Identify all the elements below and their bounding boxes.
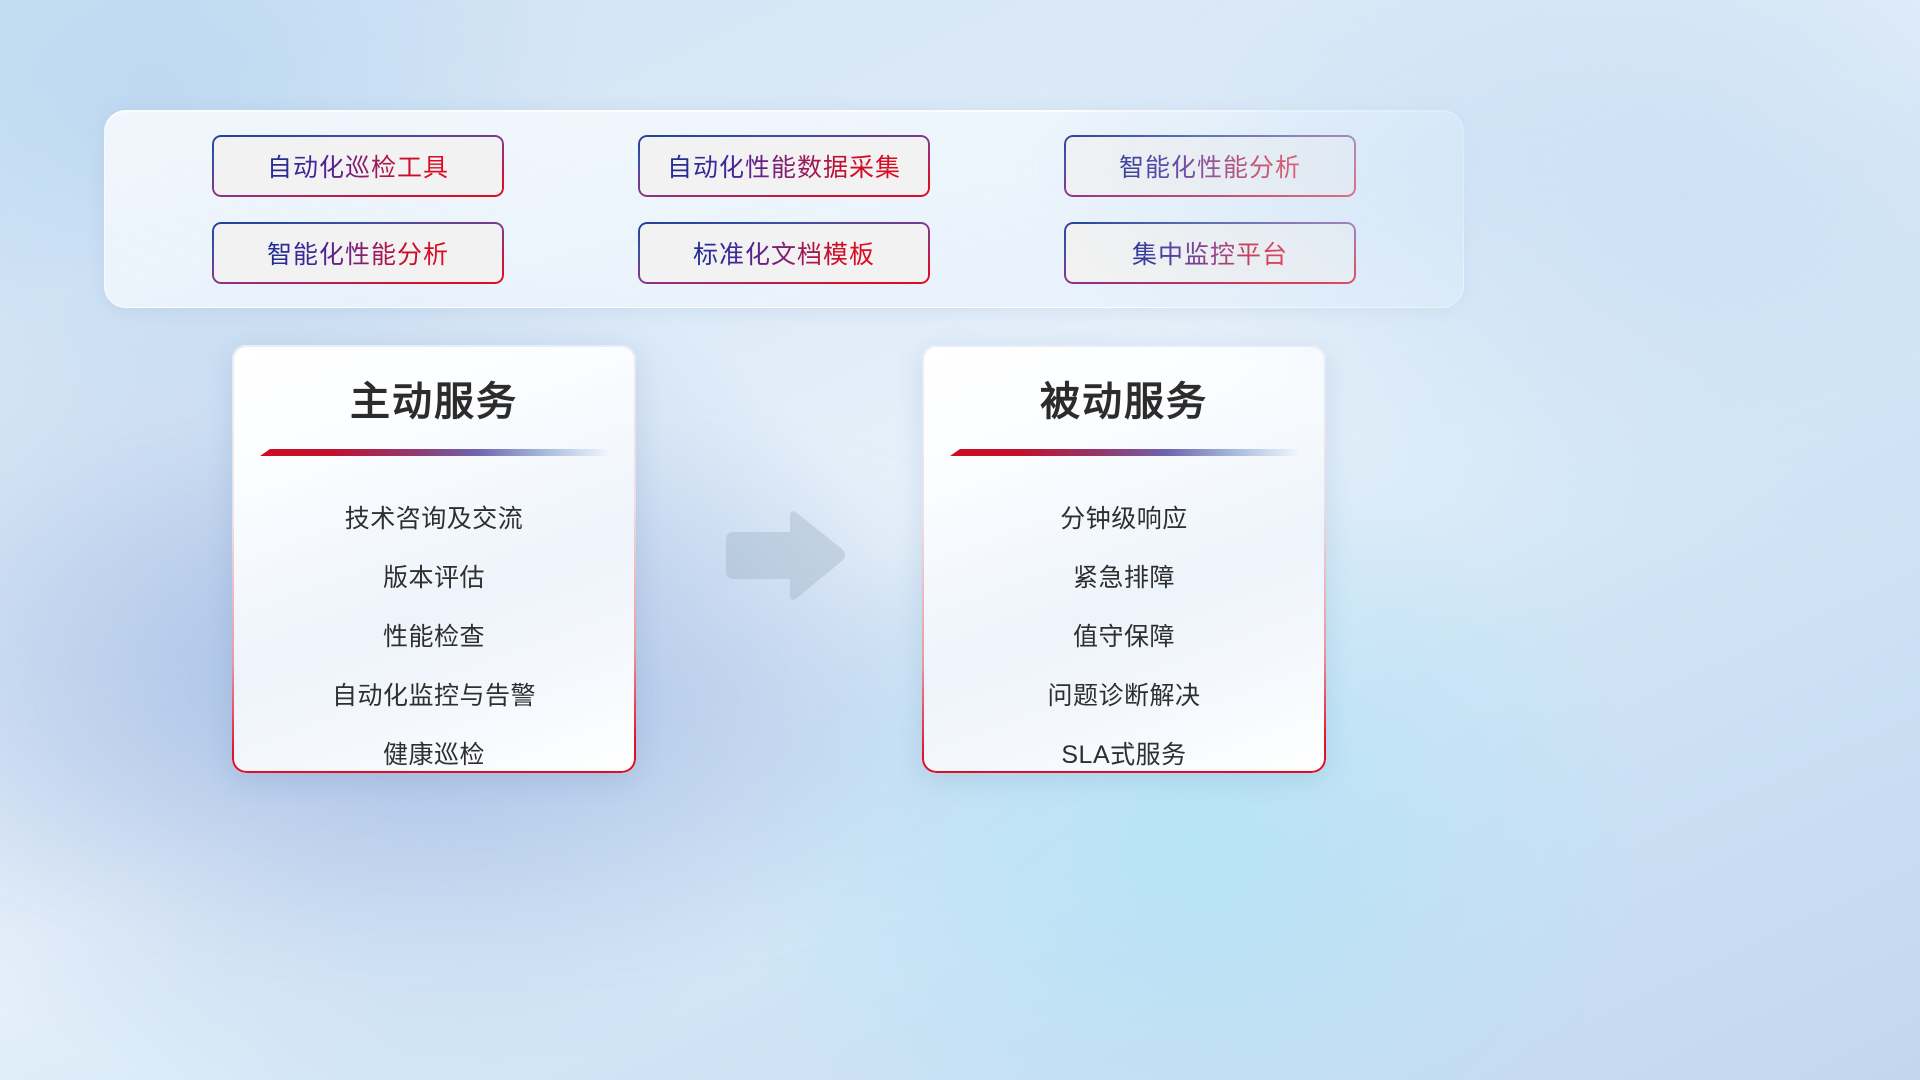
capability-tag[interactable]: 自动化性能数据采集	[638, 135, 930, 197]
list-item: 性能检查	[232, 608, 636, 667]
right-arrow-icon	[718, 506, 848, 606]
capability-tag[interactable]: 自动化巡检工具	[212, 135, 504, 197]
card-title: 主动服务	[232, 369, 636, 427]
service-card-reactive[interactable]: 被动服务 分钟级响应 紧急排障 值守保障 问题诊断解决 SLA式服务	[922, 345, 1326, 773]
capability-tag-label: 集中监控平台	[1132, 235, 1288, 271]
capability-tag[interactable]: 智能化性能分析	[1064, 135, 1356, 197]
list-item: 技术咨询及交流	[232, 490, 636, 549]
capability-tag-label: 自动化巡检工具	[267, 148, 449, 184]
card-divider	[260, 449, 608, 456]
list-item: 自动化监控与告警	[232, 667, 636, 726]
card-divider	[950, 449, 1298, 456]
list-item: 值守保障	[922, 608, 1326, 667]
list-item: 健康巡检	[232, 726, 636, 773]
capability-panel: 自动化巡检工具 自动化性能数据采集 智能化性能分析 智能化性能分析 标准化文档模…	[104, 110, 1464, 308]
list-item: 版本评估	[232, 549, 636, 608]
capability-tag[interactable]: 标准化文档模板	[638, 222, 930, 284]
capability-tag-label: 智能化性能分析	[1119, 148, 1301, 184]
capability-tag[interactable]: 智能化性能分析	[212, 222, 504, 284]
card-item-list: 技术咨询及交流 版本评估 性能检查 自动化监控与告警 健康巡检	[232, 490, 636, 773]
list-item: 问题诊断解决	[922, 667, 1326, 726]
capability-tag-label: 智能化性能分析	[267, 235, 449, 271]
capability-tag[interactable]: 集中监控平台	[1064, 222, 1356, 284]
capability-tag-label: 标准化文档模板	[693, 235, 875, 271]
service-card-proactive[interactable]: 主动服务 技术咨询及交流 版本评估 性能检查 自动化监控与告警 健康巡检	[232, 345, 636, 773]
slide-canvas: 自动化巡检工具 自动化性能数据采集 智能化性能分析 智能化性能分析 标准化文档模…	[0, 0, 1920, 1080]
capability-tag-grid: 自动化巡检工具 自动化性能数据采集 智能化性能分析 智能化性能分析 标准化文档模…	[105, 111, 1463, 307]
list-item: 紧急排障	[922, 549, 1326, 608]
card-item-list: 分钟级响应 紧急排障 值守保障 问题诊断解决 SLA式服务	[922, 490, 1326, 773]
card-title: 被动服务	[922, 369, 1326, 427]
capability-tag-label: 自动化性能数据采集	[667, 148, 901, 184]
list-item: 分钟级响应	[922, 490, 1326, 549]
list-item: SLA式服务	[922, 726, 1326, 773]
